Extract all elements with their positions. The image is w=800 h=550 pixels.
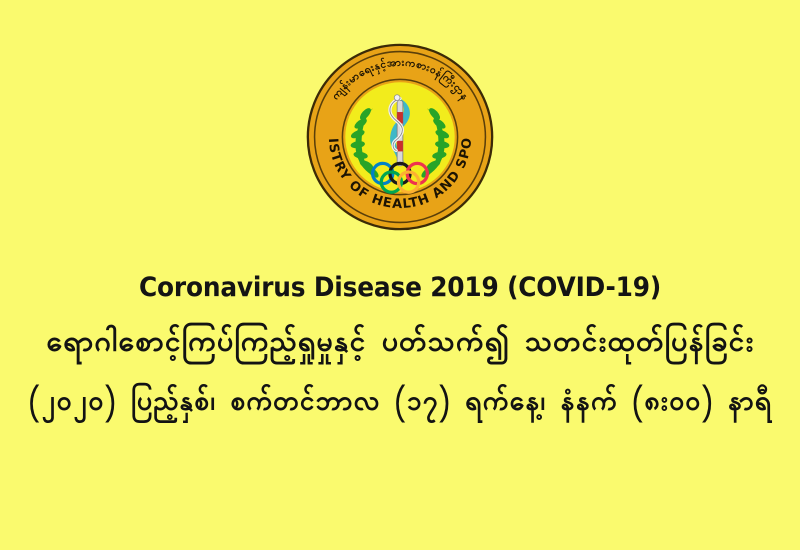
announcement-text-block: Coronavirus Disease 2019 (COVID-19) ရောဂ… <box>0 272 800 424</box>
page-title: Coronavirus Disease 2019 (COVID-19) <box>32 272 768 303</box>
ministry-seal-svg: ကျန်းမာရေးနှင့်အားကစားဝန်ကြီးဌာန MINISTR… <box>304 41 496 233</box>
ministry-seal-logo: ကျန်းမာရေးနှင့်အားကစားဝန်ကြီးဌာန MINISTR… <box>304 41 496 233</box>
subtitle-burmese-line-2: (၂၀၂၀) ပြည့်နှစ်၊ စက်တင်ဘာလ (၁၇) ရက်နေ့၊… <box>0 382 800 424</box>
subtitle-burmese-line-1: ရောဂါစောင့်ကြပ်ကြည့်ရှုမှုနှင့် ပတ်သက်၍ … <box>0 321 800 366</box>
announcement-slide: ကျန်းမာရေးနှင့်အားကစားဝန်ကြီးဌာန MINISTR… <box>0 0 800 550</box>
